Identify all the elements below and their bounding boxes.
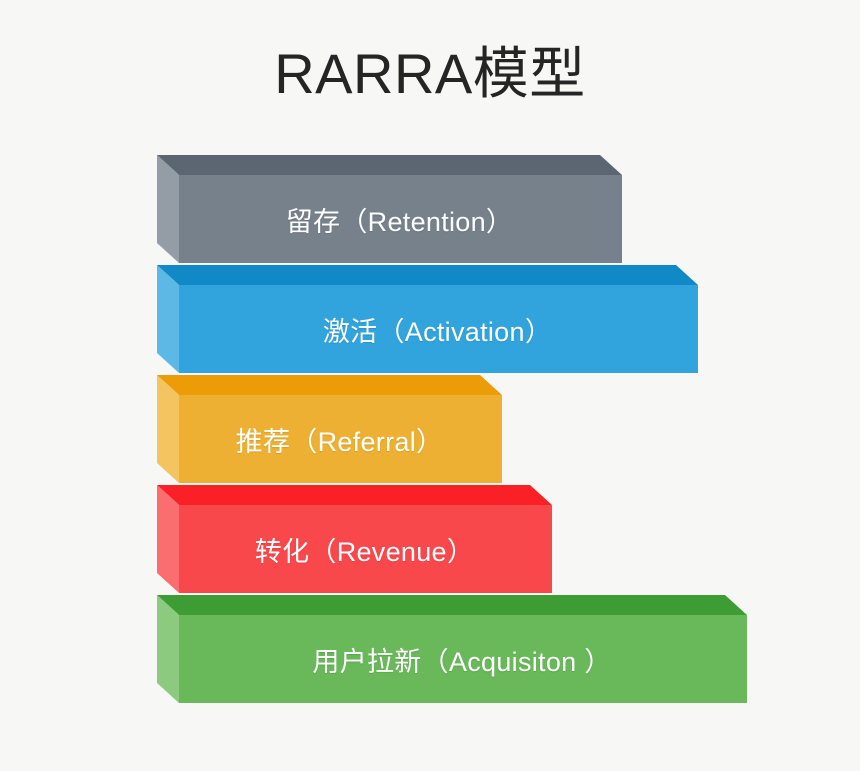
page-title: RARRA模型 xyxy=(0,42,860,106)
bar-top-face-activation xyxy=(157,265,698,285)
bar-activation: 激活（Activation） xyxy=(157,265,698,373)
bar-front-face-referral xyxy=(179,395,502,483)
bar-top-face-retention xyxy=(157,155,622,175)
bar-shape-activation xyxy=(157,265,698,373)
bar-front-face-revenue xyxy=(179,505,552,593)
rarra-bar-stack: 留存（Retention）激活（Activation）推荐（Referral）转… xyxy=(0,155,860,715)
bar-retention: 留存（Retention） xyxy=(157,155,622,263)
bar-referral: 推荐（Referral） xyxy=(157,375,502,483)
bar-shape-referral xyxy=(157,375,502,483)
bar-shape-revenue xyxy=(157,485,552,593)
bar-front-face-retention xyxy=(179,175,622,263)
bar-acquisition: 用户拉新（Acquisiton ） xyxy=(157,595,747,703)
diagram-canvas: RARRA模型 留存（Retention）激活（Activation）推荐（Re… xyxy=(0,0,860,771)
bar-shape-acquisition xyxy=(157,595,747,703)
bar-top-face-referral xyxy=(157,375,502,395)
bar-top-face-acquisition xyxy=(157,595,747,615)
bar-top-face-revenue xyxy=(157,485,552,505)
bar-front-face-activation xyxy=(179,285,698,373)
bar-front-face-acquisition xyxy=(179,615,747,703)
bar-shape-retention xyxy=(157,155,622,263)
bar-revenue: 转化（Revenue） xyxy=(157,485,552,593)
